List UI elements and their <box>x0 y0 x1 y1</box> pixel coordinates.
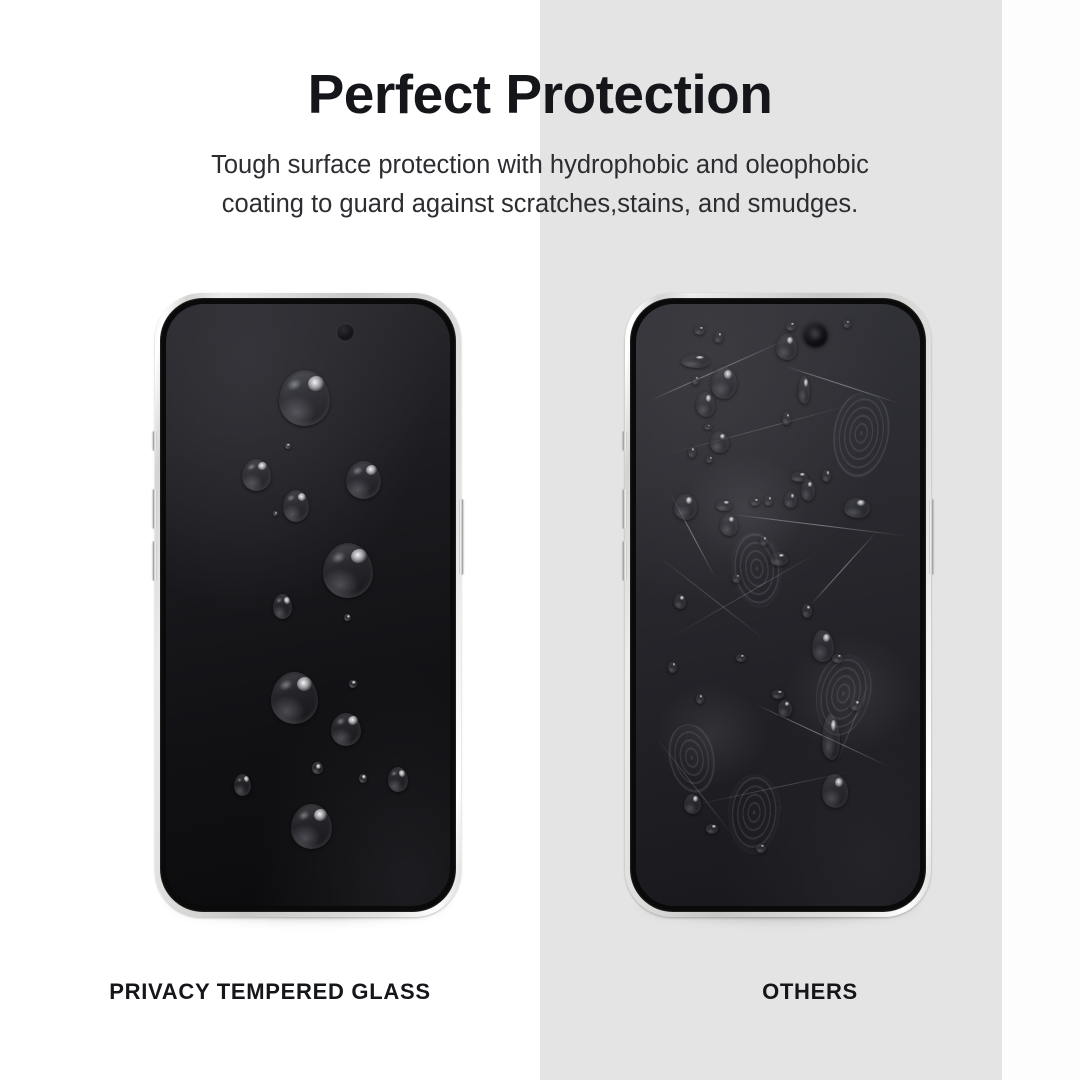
water-droplet <box>285 443 291 449</box>
subtitle-line-1: Tough surface protection with hydrophobi… <box>0 146 1080 185</box>
subtitle-line-2: coating to guard against scratches,stain… <box>0 185 1080 224</box>
water-smear <box>720 514 738 536</box>
stain-haze <box>686 454 806 564</box>
phone-screen-smudged <box>636 304 920 906</box>
water-smear <box>801 479 815 501</box>
stain-haze <box>656 684 766 784</box>
water-smear <box>706 824 718 834</box>
page-title: Perfect Protection <box>0 66 1080 124</box>
panel-caption-privacy-glass: PRIVACY TEMPERED GLASS <box>0 979 540 1005</box>
water-droplet <box>331 713 361 746</box>
water-smear <box>692 376 699 385</box>
water-smear <box>770 552 788 566</box>
action-button[interactable] <box>623 431 627 451</box>
fingerprint-smudge <box>827 388 896 482</box>
header: Perfect Protection Tough surface protect… <box>0 0 1080 223</box>
water-smear <box>704 424 712 430</box>
water-droplet <box>283 490 309 522</box>
water-smear <box>764 496 773 506</box>
water-smear <box>772 690 784 699</box>
water-droplet <box>344 614 351 621</box>
phone-mockup-others <box>625 293 931 917</box>
water-smear <box>844 498 870 518</box>
comparison-panel-others: OTHERS <box>540 285 1080 1045</box>
water-smear <box>714 332 723 343</box>
fingerprint-smudge <box>725 772 782 855</box>
water-droplet <box>346 461 381 499</box>
water-smear <box>822 774 848 808</box>
water-droplet <box>273 594 292 619</box>
water-smear <box>684 794 701 814</box>
water-smear <box>750 498 760 506</box>
power-button[interactable] <box>459 499 463 575</box>
water-smear <box>782 412 791 425</box>
water-smear <box>736 654 746 662</box>
water-smear <box>674 494 697 520</box>
water-droplet <box>359 774 367 783</box>
water-droplet <box>323 543 373 598</box>
water-smear <box>674 594 686 609</box>
water-smear <box>798 376 810 404</box>
water-smear <box>681 354 710 368</box>
water-smear <box>786 322 796 331</box>
water-smear <box>706 456 713 463</box>
comparison-panel-privacy-tempered-glass: PRIVACY TEMPERED GLASS <box>0 285 540 1045</box>
volume-up-button[interactable] <box>623 489 627 529</box>
phone-screen-clean <box>166 304 450 906</box>
water-smear <box>756 844 766 853</box>
water-smear <box>832 654 843 663</box>
scratch-mark <box>811 530 879 605</box>
water-smear <box>694 326 705 335</box>
water-droplet <box>388 767 408 792</box>
water-smear <box>716 500 732 511</box>
water-droplet <box>312 762 323 774</box>
water-smear <box>696 694 704 704</box>
water-droplet <box>291 804 332 849</box>
water-smear <box>802 604 812 618</box>
action-button[interactable] <box>153 431 157 451</box>
water-droplet <box>273 511 278 516</box>
water-droplet <box>349 680 357 688</box>
water-droplet <box>279 370 330 426</box>
water-smear <box>732 574 741 583</box>
power-button[interactable] <box>929 499 933 575</box>
water-smear <box>812 630 834 662</box>
water-smear <box>760 536 768 546</box>
volume-up-button[interactable] <box>153 489 157 529</box>
water-droplet <box>234 774 251 796</box>
water-smear <box>784 492 797 508</box>
volume-down-button[interactable] <box>623 541 627 581</box>
panel-caption-others: OTHERS <box>540 979 1080 1005</box>
water-droplet <box>242 459 271 491</box>
water-smear <box>778 700 792 717</box>
volume-down-button[interactable] <box>153 541 157 581</box>
water-smear <box>711 366 737 399</box>
water-smear <box>710 431 729 453</box>
stain-haze <box>786 634 916 754</box>
water-droplet <box>271 672 318 724</box>
water-smear <box>668 662 677 673</box>
water-smear <box>696 392 715 417</box>
water-smear <box>688 447 696 458</box>
page-subtitle: Tough surface protection with hydrophobi… <box>0 146 1080 224</box>
water-smear <box>776 334 797 360</box>
phone-mockup-privacy-glass <box>155 293 461 917</box>
water-smear <box>843 320 851 328</box>
front-camera-icon <box>337 324 354 341</box>
water-smear <box>822 470 831 482</box>
front-camera-icon <box>803 323 828 348</box>
water-smear <box>850 700 861 711</box>
